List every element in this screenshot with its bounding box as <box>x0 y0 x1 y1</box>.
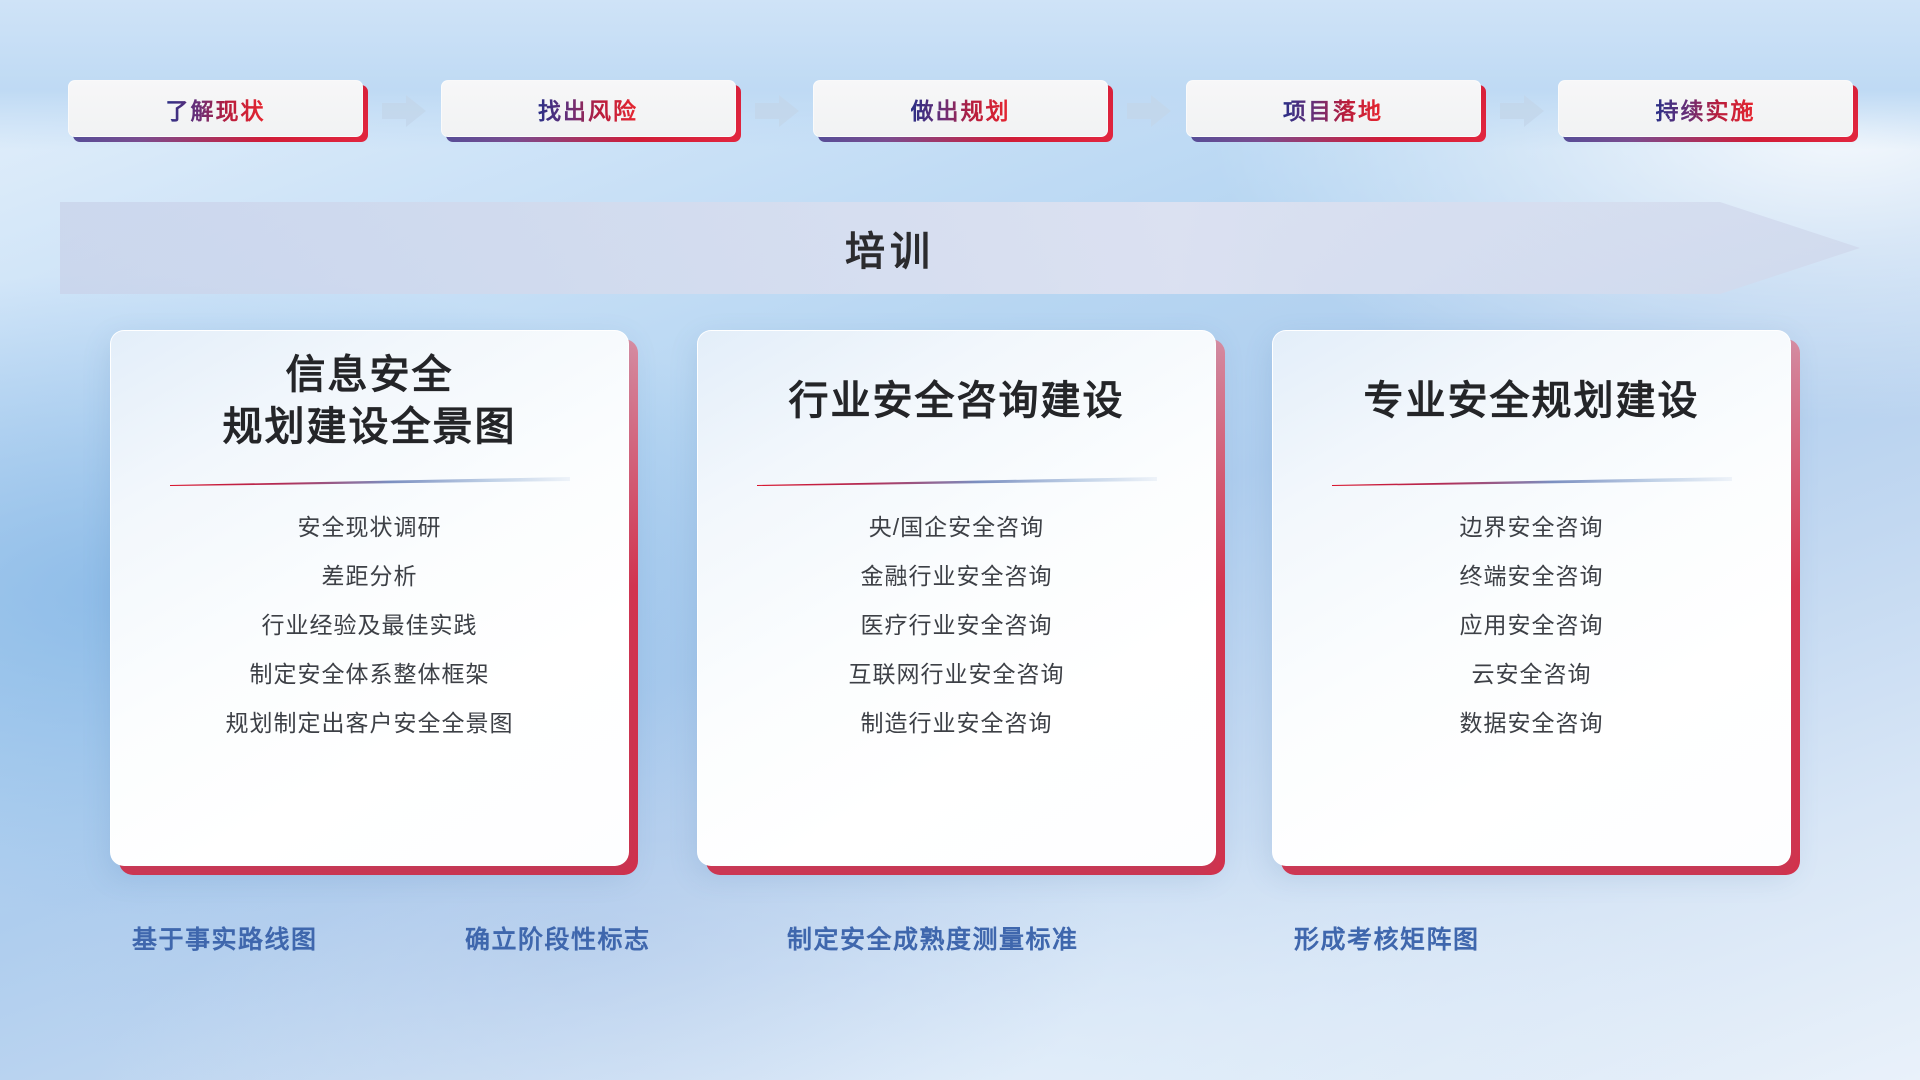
card-list-0: 安全现状调研 差距分析 行业经验及最佳实践 制定安全体系整体框架 规划制定出客户… <box>111 516 628 761</box>
card-list-1: 央/国企安全咨询 金融行业安全咨询 医疗行业安全咨询 互联网行业安全咨询 制造行… <box>698 516 1215 761</box>
card-title-line: 信息安全 <box>129 349 610 401</box>
card-divider-2 <box>1332 473 1732 482</box>
card-face-0[interactable]: 信息安全 规划建设全景图 <box>110 330 629 866</box>
card-list-item: 终端安全咨询 <box>1273 565 1790 588</box>
card-face-1[interactable]: 行业安全咨询建设 央/国 <box>697 330 1216 866</box>
step-label-2: 做出规划 <box>911 92 1011 126</box>
card-title-2: 专业安全规划建设 <box>1273 375 1790 427</box>
caption-1: 确立阶段性标志 <box>465 920 651 956</box>
process-steps: 了解现状 找出风险 做出规划 项目落地 持续实施 <box>68 80 1858 142</box>
step-box-0[interactable]: 了解现状 <box>68 80 363 137</box>
training-banner: 培训 <box>60 196 1860 300</box>
card-list-item: 金融行业安全咨询 <box>698 565 1215 588</box>
card-face-2[interactable]: 专业安全规划建设 边界安 <box>1272 330 1791 866</box>
right-arrow-icon <box>1500 94 1544 128</box>
card-title-1: 行业安全咨询建设 <box>698 375 1215 427</box>
step-item-2[interactable]: 做出规划 <box>813 80 1113 142</box>
card-list-item: 边界安全咨询 <box>1273 516 1790 539</box>
service-card-0[interactable]: 信息安全 规划建设全景图 <box>110 330 638 875</box>
card-list-item: 规划制定出客户安全全景图 <box>111 712 628 735</box>
card-list-item: 云安全咨询 <box>1273 663 1790 686</box>
step-item-4[interactable]: 持续实施 <box>1558 80 1858 142</box>
card-list-item: 应用安全咨询 <box>1273 614 1790 637</box>
step-item-0[interactable]: 了解现状 <box>68 80 368 142</box>
card-list-item: 制定安全体系整体框架 <box>111 663 628 686</box>
service-card-2[interactable]: 专业安全规划建设 边界安 <box>1272 330 1800 875</box>
card-list-item: 互联网行业安全咨询 <box>698 663 1215 686</box>
right-arrow-icon <box>1127 94 1171 128</box>
caption-2: 制定安全成熟度测量标准 <box>787 920 1079 956</box>
card-list-item: 差距分析 <box>111 565 628 588</box>
step-label-1: 找出风险 <box>538 92 638 126</box>
card-title-line: 规划建设全景图 <box>129 401 610 453</box>
bottom-captions: 基于事实路线图 确立阶段性标志 制定安全成熟度测量标准 形成考核矩阵图 <box>0 920 1920 968</box>
card-list-item: 安全现状调研 <box>111 516 628 539</box>
card-title-0: 信息安全 规划建设全景图 <box>111 349 628 453</box>
right-arrow-icon <box>755 94 799 128</box>
card-title-line: 行业安全咨询建设 <box>716 375 1197 427</box>
service-card-1[interactable]: 行业安全咨询建设 央/国 <box>697 330 1225 875</box>
caption-3: 形成考核矩阵图 <box>1294 920 1480 956</box>
card-list-item: 医疗行业安全咨询 <box>698 614 1215 637</box>
card-title-line: 专业安全规划建设 <box>1291 375 1772 427</box>
banner-title: 培训 <box>60 196 1860 300</box>
card-list-item: 数据安全咨询 <box>1273 712 1790 735</box>
step-label-3: 项目落地 <box>1283 92 1383 126</box>
right-arrow-icon <box>382 94 426 128</box>
step-box-1[interactable]: 找出风险 <box>441 80 736 137</box>
step-item-1[interactable]: 找出风险 <box>441 80 741 142</box>
step-box-4[interactable]: 持续实施 <box>1558 80 1853 137</box>
step-label-0: 了解现状 <box>166 92 266 126</box>
card-list-item: 行业经验及最佳实践 <box>111 614 628 637</box>
step-box-3[interactable]: 项目落地 <box>1186 80 1481 137</box>
caption-0: 基于事实路线图 <box>132 920 318 956</box>
step-box-2[interactable]: 做出规划 <box>813 80 1108 137</box>
service-cards: 信息安全 规划建设全景图 <box>0 330 1920 890</box>
card-divider-1 <box>757 473 1157 482</box>
step-label-4: 持续实施 <box>1656 92 1756 126</box>
card-divider-0 <box>170 473 570 482</box>
card-list-2: 边界安全咨询 终端安全咨询 应用安全咨询 云安全咨询 数据安全咨询 <box>1273 516 1790 761</box>
step-item-3[interactable]: 项目落地 <box>1186 80 1486 142</box>
card-list-item: 央/国企安全咨询 <box>698 516 1215 539</box>
card-list-item: 制造行业安全咨询 <box>698 712 1215 735</box>
